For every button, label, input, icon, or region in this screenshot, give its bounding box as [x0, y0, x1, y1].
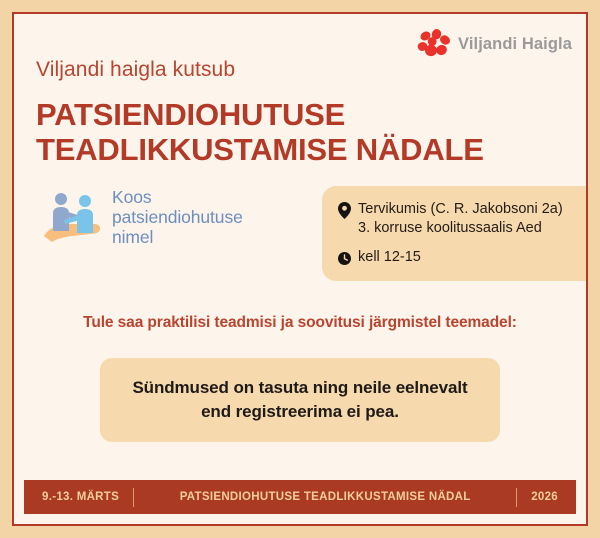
footer-dates: 9.-13. MÄRTS: [42, 491, 119, 503]
poster-eyebrow: Viljandi haigla kutsub: [36, 58, 235, 82]
footer-divider-left: [133, 488, 134, 507]
partner-text-line-3: nimel: [112, 227, 243, 247]
event-time-line-1: kell 12-15: [358, 248, 421, 267]
event-location-line-2: 3. korruse koolitussaalis Aed: [358, 219, 563, 238]
poster: Viljandi Haigla Viljandi haigla kutsub P…: [0, 0, 600, 538]
event-location-row: Tervikumis (C. R. Jakobsoni 2a) 3. korru…: [338, 200, 576, 238]
invitation-text: Tule saa praktilisi teadmisi ja soovitus…: [14, 314, 586, 332]
footer-divider-right: [516, 488, 517, 507]
partner-logo: Koos patsiendiohutuse nimel: [42, 186, 243, 248]
poster-title-line-1: PATSIENDIOHUTUSE: [36, 98, 576, 133]
partner-logo-text: Koos patsiendiohutuse nimel: [112, 187, 243, 248]
event-time-text: kell 12-15: [358, 248, 421, 267]
two-people-on-hand-icon: [42, 186, 104, 248]
event-location-line-1: Tervikumis (C. R. Jakobsoni 2a): [358, 200, 563, 219]
notice-line-1: Sündmused on tasuta ning neile eelnevalt: [116, 376, 484, 400]
partner-text-line-1: Koos: [112, 187, 243, 207]
poster-midrow: Koos patsiendiohutuse nimel Tervikumis (…: [14, 178, 586, 284]
event-time-row: kell 12-15: [338, 248, 576, 267]
footer-year: 2026: [531, 491, 558, 503]
notice-line-2: end registreerima ei pea.: [116, 400, 484, 424]
partner-text-line-2: patsiendiohutuse: [112, 207, 243, 227]
hospital-brand-name: Viljandi Haigla: [458, 35, 572, 54]
event-location-text: Tervikumis (C. R. Jakobsoni 2a) 3. korru…: [358, 200, 563, 238]
footer-campaign: PATSIENDIOHUTUSE TEADLIKKUSTAMISE NÄDAL: [148, 491, 502, 503]
clock-icon: [338, 250, 351, 267]
notice-box: Sündmused on tasuta ning neile eelnevalt…: [100, 358, 500, 442]
poster-card: Viljandi Haigla Viljandi haigla kutsub P…: [12, 12, 588, 526]
poster-header: Viljandi Haigla Viljandi haigla kutsub P…: [14, 14, 586, 164]
notice-text: Sündmused on tasuta ning neile eelnevalt…: [116, 376, 484, 424]
event-details-box: Tervikumis (C. R. Jakobsoni 2a) 3. korru…: [322, 186, 586, 281]
poster-footer: 9.-13. MÄRTS PATSIENDIOHUTUSE TEADLIKKUS…: [24, 480, 576, 514]
poster-title: PATSIENDIOHUTUSE TEADLIKKUSTAMISE NÄDALE: [36, 98, 576, 167]
hospital-brand: Viljandi Haigla: [417, 28, 572, 60]
poster-title-line-2: TEADLIKKUSTAMISE NÄDALE: [36, 133, 576, 168]
flower-logo-icon: [417, 28, 451, 60]
location-pin-icon: [338, 202, 351, 219]
